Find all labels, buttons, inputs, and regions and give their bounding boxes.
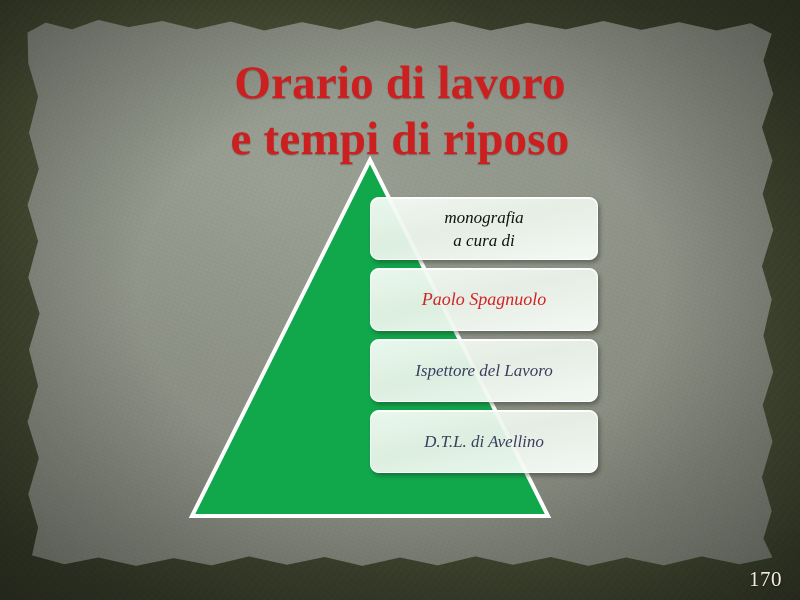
box-monografia: monografia a cura di (370, 197, 598, 260)
page-number: 170 (749, 567, 782, 592)
box-monografia-line-1: monografia (444, 206, 523, 229)
title-line-1: Orario di lavoro (0, 55, 800, 111)
presentation-slide: Orario di lavoro e tempi di riposo monog… (0, 0, 800, 600)
slide-title: Orario di lavoro e tempi di riposo (0, 55, 800, 167)
box-monografia-line-2: a cura di (453, 229, 514, 252)
box-office: D.T.L. di Avellino (370, 410, 598, 473)
label-box-stack: monografia a cura di Paolo Spagnuolo Isp… (370, 197, 598, 473)
box-role-line-1: Ispettore del Lavoro (415, 359, 553, 382)
box-office-line-1: D.T.L. di Avellino (424, 430, 544, 453)
box-author-line-1: Paolo Spagnuolo (422, 288, 547, 311)
box-author: Paolo Spagnuolo (370, 268, 598, 331)
box-role: Ispettore del Lavoro (370, 339, 598, 402)
